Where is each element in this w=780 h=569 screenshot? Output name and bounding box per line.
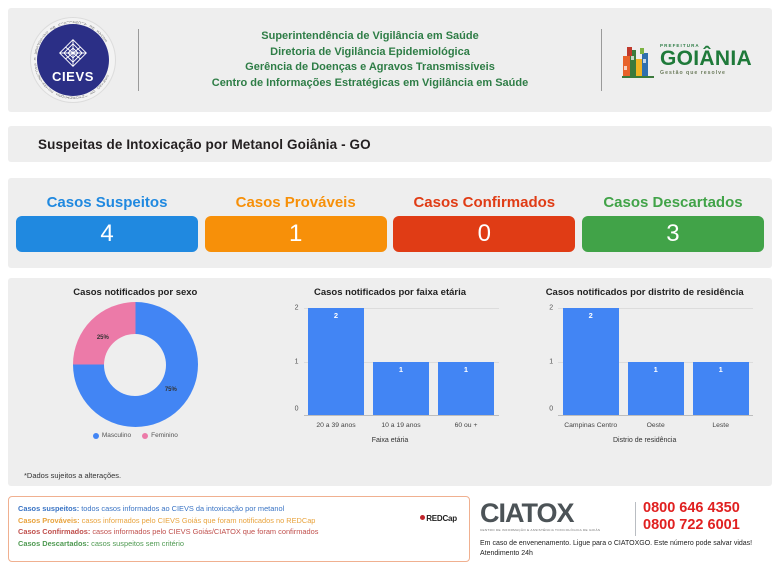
bar[interactable]: 1 (693, 362, 749, 416)
cievs-logo-container: CENTRO DE INFORMAÇÕES ESTRATÉGICAS E RES… (8, 17, 138, 103)
x-axis-tick-label: 20 a 39 anos (304, 422, 369, 431)
x-axis-tick-label: 10 a 19 anos (369, 422, 434, 431)
ciatox-block: CIATOX CENTRO DE INFORMAÇÃO E ASSISTÊNCI… (470, 496, 772, 562)
ciatox-header-row: CIATOX CENTRO DE INFORMAÇÃO E ASSISTÊNCI… (480, 500, 772, 536)
bar-value-label: 2 (563, 311, 619, 320)
definition-row-casos-provaveis: Casos Prováveis: casos informados pelo C… (18, 515, 460, 527)
plot-area: 2 1 0 2 1 1 (558, 308, 753, 416)
donut-hole (104, 334, 166, 396)
ciatox-message: Em caso de envenenamento. Ligue para o C… (480, 539, 770, 558)
kpi-card-casos-descartados[interactable]: Casos Descartados 3 (582, 194, 764, 252)
redcap-logo: REDCap (420, 514, 457, 523)
bar-cell[interactable]: 1 (688, 308, 753, 415)
kpi-label: Casos Prováveis (236, 194, 356, 211)
ciatox-phone-list: 0800 646 4350 0800 722 6001 (643, 500, 740, 534)
page-title-bar: Suspeitas de Intoxicação por Metanol Goi… (8, 126, 772, 162)
bar-cell[interactable]: 2 (304, 308, 369, 415)
y-axis-tick: 1 (549, 359, 553, 366)
bar-group: 2 1 1 (558, 308, 753, 415)
legend-item-feminino[interactable]: Feminino (142, 432, 178, 439)
kpi-value: 1 (205, 216, 387, 252)
x-axis-title: Faixa etária (278, 437, 503, 444)
redcap-label: REDCap (426, 514, 457, 523)
definition-row-casos-descartados: Casos Descartados: casos suspeitos sem c… (18, 538, 460, 550)
bar-value-label: 1 (373, 365, 429, 374)
definition-text: todos casos informados ao CIEVS da intox… (79, 504, 284, 513)
bar-cell[interactable]: 2 (558, 308, 623, 415)
goiania-buildings-icon (622, 42, 654, 78)
x-axis-line: 0 (558, 415, 753, 416)
case-definitions-box: Casos suspeitos: todos casos informados … (8, 496, 470, 562)
y-axis-tick: 2 (295, 305, 299, 312)
legend-item-masculino[interactable]: Masculino (93, 432, 131, 439)
definition-text: casos suspeitos sem critério (89, 539, 184, 548)
data-disclaimer-note: *Dados sujeitos a alterações. (24, 471, 121, 480)
bar-value-label: 1 (628, 365, 684, 374)
goiania-city-label: GOIÂNIA (660, 48, 752, 69)
ciatox-logo: CIATOX CENTRO DE INFORMAÇÃO E ASSISTÊNCI… (480, 500, 628, 532)
kpi-card-casos-suspeitos[interactable]: Casos Suspeitos 4 (16, 194, 198, 252)
kpi-strip: Casos Suspeitos 4 Casos Prováveis 1 Caso… (8, 178, 772, 268)
donut-slice-label-feminino: 25% (97, 335, 109, 341)
header-title-block: Superintendência de Vigilância em Saúde … (139, 29, 601, 91)
legend-label: Feminino (151, 432, 178, 439)
bar-chart-faixa-etaria[interactable]: 2 1 0 2 1 1 20 a 39 anos 10 a 19 anos 60… (278, 302, 503, 442)
ciatox-phone[interactable]: 0800 646 4350 (643, 500, 740, 517)
kpi-label: Casos Confirmados (413, 194, 555, 211)
charts-panel: Casos notificados por sexo 25% 75% Mascu… (8, 278, 772, 486)
bar-cell[interactable]: 1 (434, 308, 499, 415)
bar[interactable]: 1 (628, 362, 684, 416)
network-grid-icon (56, 38, 90, 68)
cievs-logo-disc: CIEVS (37, 24, 109, 96)
x-axis-labels: 20 a 39 anos 10 a 19 anos 60 ou + (304, 422, 499, 431)
definition-term: Casos Prováveis: (18, 516, 80, 525)
legend-color-dot (93, 433, 99, 439)
chart-casos-por-faixa-etaria: Casos notificados por faixa etária 2 1 0… (263, 278, 518, 486)
x-axis-tick-label: 60 ou + (434, 422, 499, 431)
donut-legend: Masculino Feminino (8, 432, 263, 439)
y-axis-tick: 0 (549, 406, 553, 413)
page-title: Suspeitas de Intoxicação por Metanol Goi… (8, 137, 371, 152)
definition-row-casos-confirmados: Casos Confirmados: casos informados pelo… (18, 526, 460, 538)
bar-value-label: 1 (438, 365, 494, 374)
definition-term: Casos Confirmados: (18, 527, 90, 536)
x-axis-tick-label: Leste (688, 422, 753, 431)
donut-chart[interactable]: 25% 75% (73, 302, 198, 427)
bar-cell[interactable]: 1 (369, 308, 434, 415)
ciatox-name: CIATOX (480, 500, 628, 527)
kpi-card-casos-provaveis[interactable]: Casos Prováveis 1 (205, 194, 387, 252)
chart-casos-por-distrito: Casos notificados por distrito de residê… (517, 278, 772, 486)
kpi-value: 3 (582, 216, 764, 252)
bar[interactable]: 2 (563, 308, 619, 415)
header-title-line-4: Centro de Informações Estratégicas em Vi… (149, 76, 591, 92)
chart-casos-por-sexo: Casos notificados por sexo 25% 75% Mascu… (8, 278, 263, 486)
y-axis-tick: 1 (295, 359, 299, 366)
x-axis-tick-label: Campinas Centro (558, 422, 623, 431)
definition-row-casos-suspeitos: Casos suspeitos: todos casos informados … (18, 503, 460, 515)
bar-group: 2 1 1 (304, 308, 499, 415)
bar-value-label: 2 (308, 311, 364, 320)
definition-term: Casos Descartados: (18, 539, 89, 548)
bar-value-label: 1 (693, 365, 749, 374)
goiania-logo-text: PREFEITURA GOIÂNIA Gestão que resolve (660, 44, 752, 77)
bar[interactable]: 1 (438, 362, 494, 416)
kpi-label: Casos Descartados (603, 194, 742, 211)
chart-title: Casos notificados por sexo (8, 287, 263, 298)
dashboard-footer: Casos suspeitos: todos casos informados … (8, 496, 772, 562)
definition-text: casos informados pelo CIEVS Goiás que fo… (80, 516, 316, 525)
bar[interactable]: 2 (308, 308, 364, 415)
ciatox-name-text: CIATOX (480, 498, 574, 528)
bar-chart-distrito[interactable]: 2 1 0 2 1 1 Campinas Centro Oeste Leste … (532, 302, 757, 442)
header-title-line-3: Gerência de Doenças e Agravos Transmissí… (149, 60, 591, 76)
bar[interactable]: 1 (373, 362, 429, 416)
definition-term: Casos suspeitos: (18, 504, 79, 513)
goiania-logo: PREFEITURA GOIÂNIA Gestão que resolve (602, 42, 772, 78)
dashboard-page: CENTRO DE INFORMAÇÕES ESTRATÉGICAS E RES… (0, 0, 780, 569)
chart-title: Casos notificados por distrito de residê… (517, 287, 772, 298)
donut-slice-label-masculino: 75% (165, 387, 177, 393)
legend-color-dot (142, 433, 148, 439)
kpi-value: 0 (393, 216, 575, 252)
kpi-card-casos-confirmados[interactable]: Casos Confirmados 0 (393, 194, 575, 252)
definition-text: casos informados pelo CIEVS Goiás/CIATOX… (90, 527, 318, 536)
header-title-line-1: Superintendência de Vigilância em Saúde (149, 29, 591, 45)
redcap-dot-icon (420, 515, 425, 520)
kpi-value: 4 (16, 216, 198, 252)
chart-title: Casos notificados por faixa etária (263, 287, 518, 298)
x-axis-tick-label: Oeste (623, 422, 688, 431)
y-axis-tick: 0 (295, 406, 299, 413)
ciatox-subtitle: CENTRO DE INFORMAÇÃO E ASSISTÊNCIA TOXIC… (480, 528, 631, 532)
x-axis-labels: Campinas Centro Oeste Leste (558, 422, 753, 431)
goiania-slogan: Gestão que resolve (660, 71, 752, 76)
x-axis-title: Distrio de residência (532, 437, 757, 444)
ciatox-divider (635, 502, 636, 536)
cievs-logo-text: CIEVS (52, 69, 94, 84)
legend-label: Masculino (102, 432, 131, 439)
header-title-line-2: Diretoria de Vigilância Epidemiológica (149, 45, 591, 61)
dashboard-header: CENTRO DE INFORMAÇÕES ESTRATÉGICAS E RES… (8, 8, 772, 112)
bar-cell[interactable]: 1 (623, 308, 688, 415)
y-axis-tick: 2 (549, 305, 553, 312)
kpi-label: Casos Suspeitos (47, 194, 168, 211)
ciatox-phone[interactable]: 0800 722 6001 (643, 517, 740, 534)
x-axis-line: 0 (304, 415, 499, 416)
plot-area: 2 1 0 2 1 1 (304, 308, 499, 416)
cievs-logo: CENTRO DE INFORMAÇÕES ESTRATÉGICAS E RES… (30, 17, 116, 103)
